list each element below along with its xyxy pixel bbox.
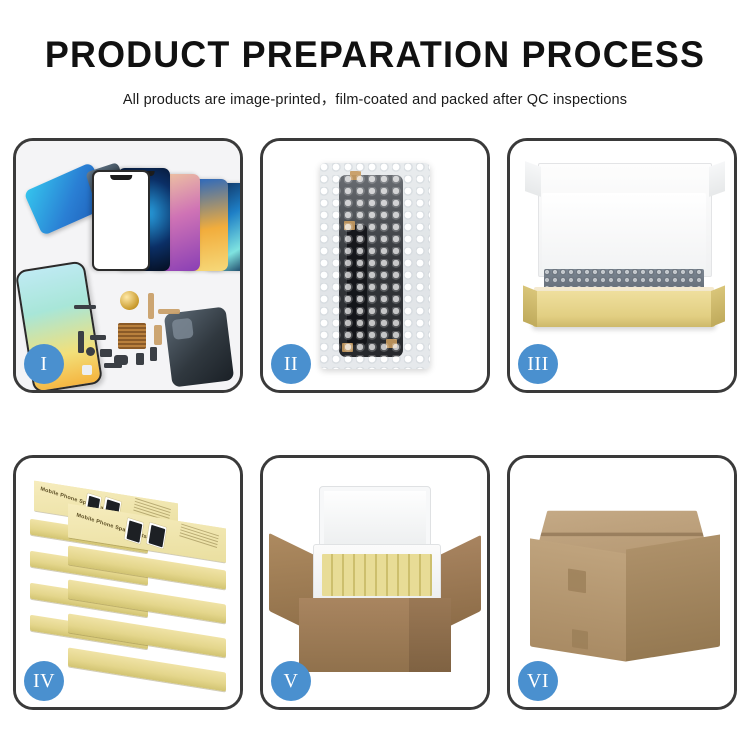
process-step-panel-4: Mobile Phone Spare Parts Mobile Phone Sp…	[13, 455, 243, 710]
stacked-retail-boxes: Mobile Phone Spare Parts Mobile Phone Sp…	[30, 480, 228, 690]
page-subtitle: All products are image-printed，film-coat…	[0, 88, 750, 109]
process-step-grid: I II III	[13, 138, 737, 710]
box-thumbnail	[124, 518, 143, 544]
box-edge	[68, 647, 226, 691]
flex-cable-part	[154, 325, 162, 345]
box-thumbnail	[146, 522, 166, 549]
page-title: PRODUCT PREPARATION PROCESS	[11, 36, 739, 75]
step-badge-6: VI	[518, 661, 558, 701]
part-strip	[150, 347, 157, 361]
thumbnail-screen	[126, 520, 142, 542]
step-badge-4: IV	[24, 661, 64, 701]
process-step-panel-3: III	[507, 138, 737, 393]
styrofoam-lid	[319, 486, 431, 550]
carton-right-face	[626, 535, 720, 662]
process-step-panel-6: VI	[507, 455, 737, 710]
step-badge-2: II	[271, 344, 311, 384]
box-spec-lines	[179, 524, 219, 550]
vibrator-motor-part	[120, 291, 139, 310]
yellow-mailer-box	[532, 291, 716, 327]
spare-parts-cluster	[74, 289, 196, 377]
part-strip	[136, 353, 144, 365]
carton-body	[299, 598, 451, 672]
part-button	[86, 347, 95, 356]
tape-piece	[342, 343, 353, 352]
tape-piece	[350, 171, 361, 180]
process-step-panel-5: V	[260, 455, 490, 710]
phone-display-lineup	[92, 161, 232, 271]
flex-cable-part	[158, 309, 180, 314]
wrapped-flex-cable	[347, 225, 367, 345]
thumbnail-screen	[148, 524, 165, 547]
styrofoam-liner	[313, 544, 441, 604]
tape-piece	[344, 221, 355, 230]
tape-patch	[572, 629, 588, 650]
flex-cable-part	[148, 293, 154, 319]
part-strip	[100, 349, 112, 357]
step-badge-3: III	[518, 344, 558, 384]
part-strip	[90, 335, 106, 340]
part-strip	[74, 305, 96, 309]
carton-left-face	[530, 538, 626, 661]
bubble-wrap-bag	[320, 163, 430, 369]
part-sim-tray	[82, 365, 92, 375]
tape-patch	[568, 568, 586, 593]
yellow-boxes-inside	[322, 554, 432, 596]
logic-board-part	[118, 323, 146, 349]
white-foam-sheet	[542, 193, 706, 271]
phone-display-1	[92, 170, 150, 271]
process-step-panel-2: II	[260, 138, 490, 393]
part-strip	[104, 363, 122, 368]
part-strip	[78, 331, 84, 353]
tape-piece	[386, 339, 397, 348]
process-step-panel-1: I	[13, 138, 243, 393]
phone-notch-icon	[110, 175, 132, 180]
page-header: PRODUCT PREPARATION PROCESS All products…	[0, 0, 750, 109]
step-badge-1: I	[24, 344, 64, 384]
step-badge-5: V	[271, 661, 311, 701]
